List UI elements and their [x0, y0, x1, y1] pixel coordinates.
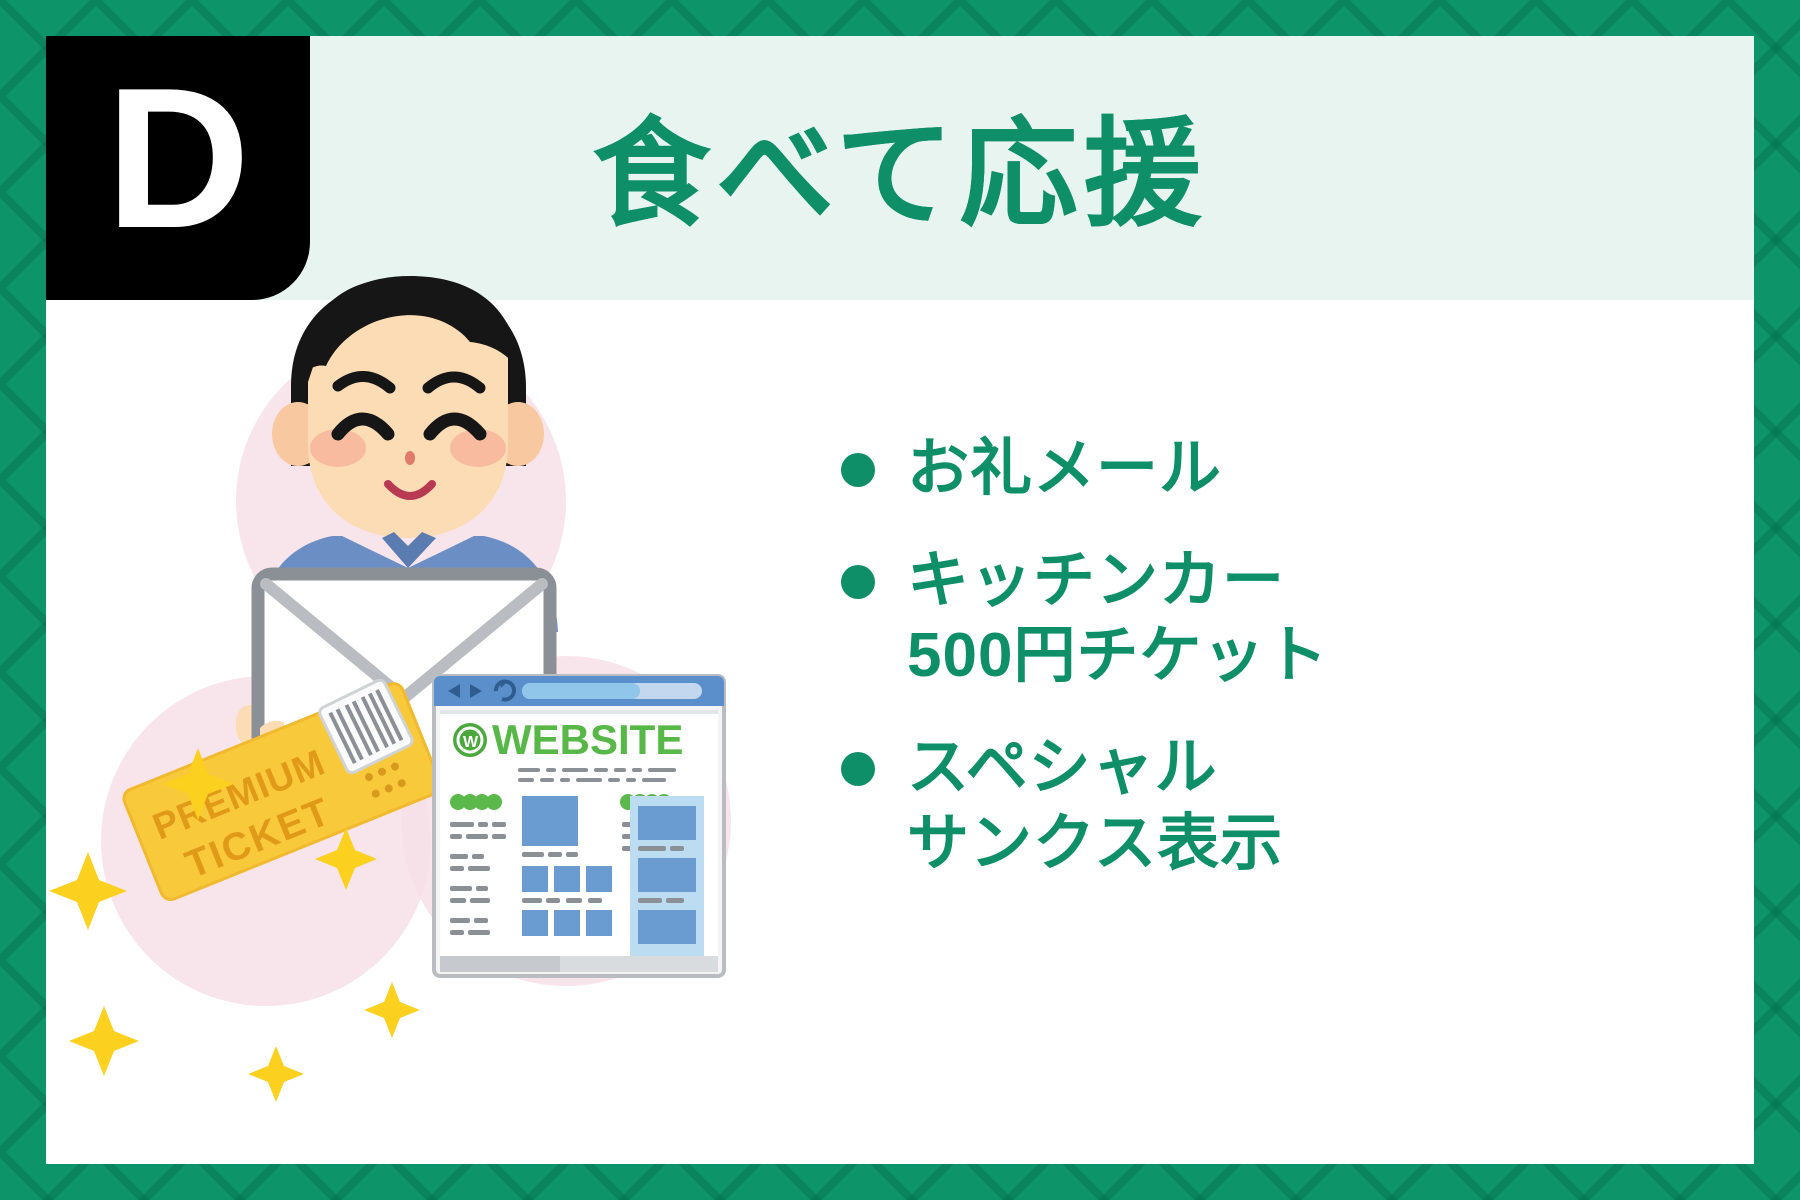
website-window-illustration: W WEBSITE — [46, 236, 786, 1136]
list-item: お礼メール — [841, 431, 1581, 507]
slide-root: 食べて応援 — [0, 0, 1800, 1200]
content-card: 食べて応援 — [46, 36, 1754, 1164]
list-item-label: お礼メール — [907, 431, 1222, 507]
section-badge: D — [46, 36, 310, 300]
bullet-dot-icon — [841, 752, 875, 786]
list-item-label: キッチンカー 500円チケット — [907, 543, 1328, 694]
bullet-dot-icon — [841, 565, 875, 599]
list-item: スペシャル サンクス表示 — [841, 730, 1581, 881]
svg-text:W: W — [463, 734, 479, 751]
illustration-group: PREMIUM TICKET — [46, 236, 786, 1136]
list-item-label: スペシャル サンクス表示 — [907, 730, 1283, 881]
benefits-list: お礼メール キッチンカー 500円チケット スペシャル サンクス表示 — [841, 431, 1581, 917]
bullet-dot-icon — [841, 453, 875, 487]
list-item: キッチンカー 500円チケット — [841, 543, 1581, 694]
svg-text:WEBSITE: WEBSITE — [492, 716, 683, 763]
